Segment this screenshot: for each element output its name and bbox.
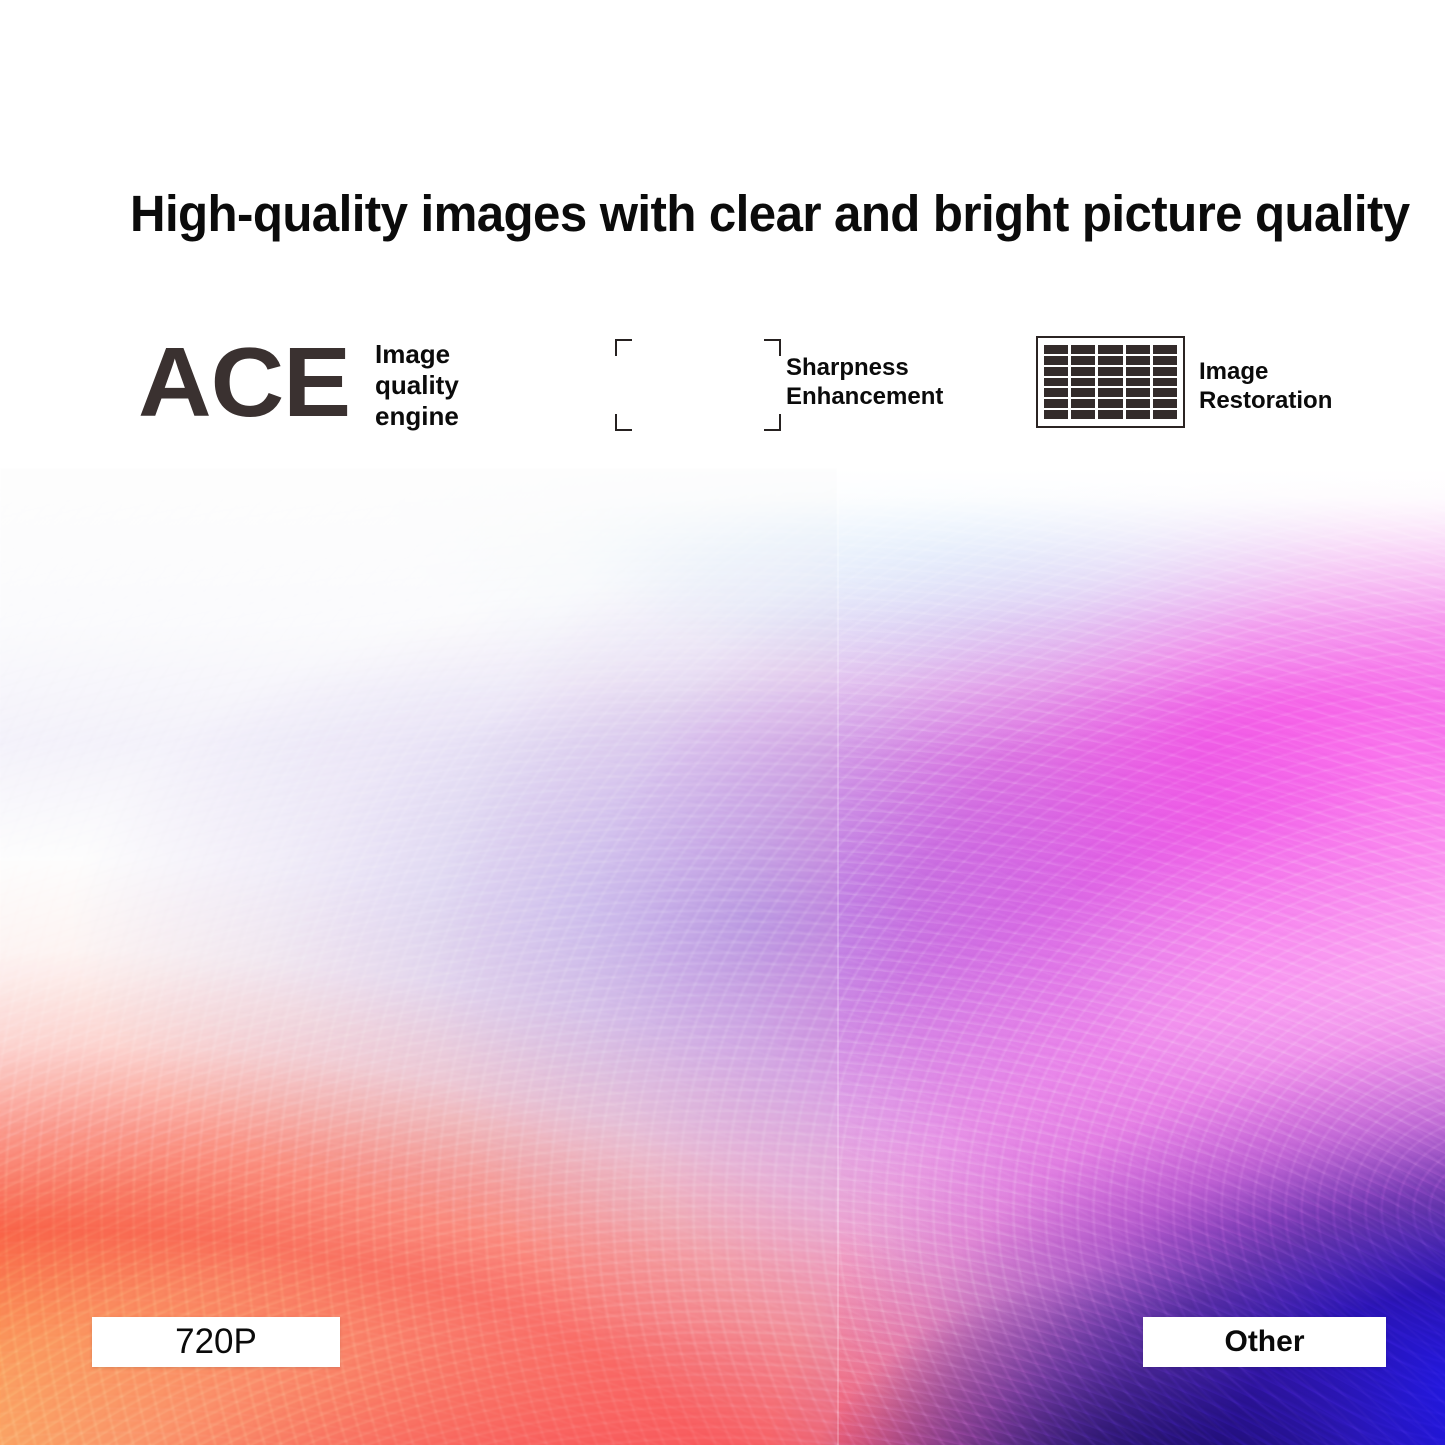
pixel-grid-cell: [1044, 399, 1068, 408]
pixel-grid-cell: [1126, 388, 1150, 397]
pixel-grid-cell: [1071, 410, 1095, 419]
restoration-label: Image Restoration: [1199, 357, 1332, 415]
pixel-grid-cell: [1126, 378, 1150, 387]
feature-image-restoration: Image Restoration: [1036, 325, 1436, 460]
pixel-grid-cell: [1044, 378, 1068, 387]
bracket-bottom-right-icon: [764, 414, 781, 431]
pixel-grid-cell: [1098, 399, 1122, 408]
ace-sublabel-line-2: quality: [375, 370, 459, 401]
bracket-top-left-icon: [615, 339, 632, 356]
pixel-grid-cell: [1153, 367, 1177, 376]
bracket-bottom-left-icon: [615, 414, 632, 431]
feature-ace: ACE Image quality engine: [138, 325, 568, 460]
pixel-grid-cell: [1071, 399, 1095, 408]
restoration-label-line-2: Restoration: [1199, 386, 1332, 415]
comparison-label-720p: 720P: [92, 1317, 340, 1367]
pixel-grid-cell: [1153, 345, 1177, 354]
pixel-grid-cell: [1044, 367, 1068, 376]
pixel-grid-cell: [1098, 345, 1122, 354]
pixel-grid-cell: [1153, 388, 1177, 397]
page-title: High-quality images with clear and brigh…: [130, 183, 1288, 245]
comparison-split-line[interactable]: [837, 468, 839, 1445]
pixel-grid-cell: [1071, 378, 1095, 387]
feature-sharpness-enhancement: Sharpness Enhancement: [600, 325, 1020, 460]
pixel-grid-cell: [1071, 356, 1095, 365]
pixel-grid-cell: [1153, 410, 1177, 419]
pixel-grid-cell: [1071, 388, 1095, 397]
restoration-label-line-1: Image: [1199, 357, 1332, 386]
ace-sublabel: Image quality engine: [375, 339, 459, 432]
ace-sublabel-line-3: engine: [375, 401, 459, 432]
pixel-grid-cell: [1126, 356, 1150, 365]
pixel-grid-cell: [1044, 345, 1068, 354]
pixel-grid-cell: [1126, 345, 1150, 354]
pixel-grid-cell: [1071, 345, 1095, 354]
bracket-top-right-icon: [764, 339, 781, 356]
comparison-image: [0, 468, 1445, 1445]
comparison-label-other: Other: [1143, 1317, 1386, 1367]
pixel-grid-cell: [1071, 367, 1095, 376]
pixel-grid-icon: [1036, 336, 1185, 428]
pixel-grid-cell: [1098, 356, 1122, 365]
feature-strip: ACE Image quality engine Sharpness Enhan…: [0, 325, 1445, 460]
ace-wordmark-icon: ACE: [138, 333, 350, 431]
pixel-grid-cell: [1098, 410, 1122, 419]
sharpness-label-line-2: Enhancement: [786, 382, 943, 411]
pixel-grid-cell: [1126, 399, 1150, 408]
pixel-grid-cell: [1098, 378, 1122, 387]
pixel-grid-cell: [1044, 410, 1068, 419]
pixel-grid-cell: [1153, 356, 1177, 365]
pixel-grid-cell: [1044, 388, 1068, 397]
pixel-grid-cell: [1098, 367, 1122, 376]
pixel-grid-cells: [1044, 345, 1177, 419]
pixel-grid-cell: [1153, 399, 1177, 408]
pixel-grid-cell: [1098, 388, 1122, 397]
pixel-grid-cell: [1153, 378, 1177, 387]
sharpness-label: Sharpness Enhancement: [786, 353, 943, 411]
sharpness-label-line-1: Sharpness: [786, 353, 943, 382]
promo-page: High-quality images with clear and brigh…: [0, 0, 1445, 1445]
comparison-left-pane: [0, 468, 837, 1445]
pixel-grid-cell: [1126, 410, 1150, 419]
pixel-grid-cell: [1044, 356, 1068, 365]
pixel-grid-cell: [1126, 367, 1150, 376]
ace-sublabel-line-1: Image: [375, 339, 459, 370]
focus-brackets-icon: [615, 339, 781, 431]
